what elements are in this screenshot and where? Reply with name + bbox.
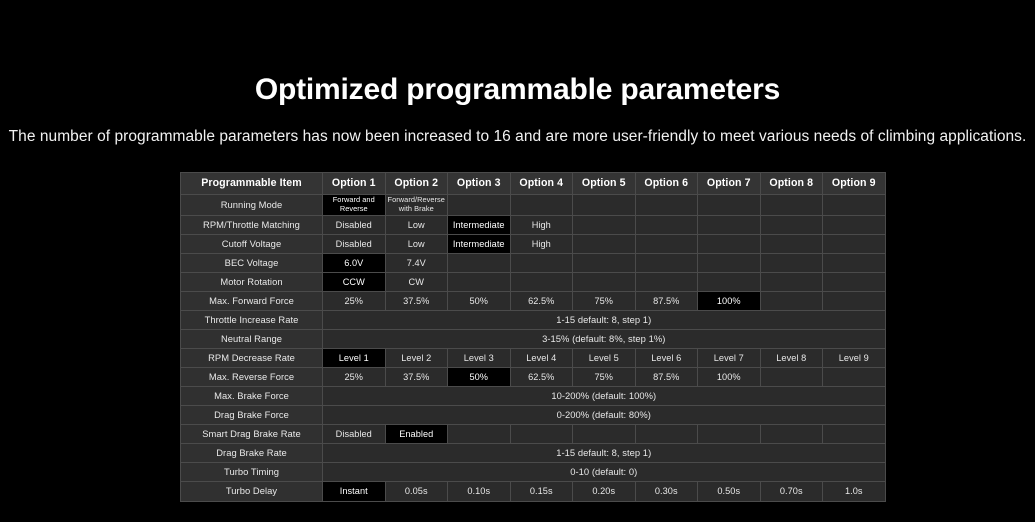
option-cell[interactable]: Disabled (323, 425, 386, 444)
option-cell[interactable]: Forward/Reverse with Brake (385, 195, 448, 216)
option-cell (573, 273, 636, 292)
table-row: Drag Brake Rate1-15 default: 8, step 1) (181, 444, 886, 463)
option-cell (823, 235, 886, 254)
option-cell[interactable]: Level 4 (510, 349, 573, 368)
option-cell (448, 254, 511, 273)
option-cell (510, 254, 573, 273)
option-cell (760, 368, 823, 387)
option-cell (573, 235, 636, 254)
row-label: Drag Brake Rate (181, 444, 323, 463)
option-cell[interactable]: 62.5% (510, 292, 573, 311)
option-cell (698, 235, 761, 254)
option-cell[interactable]: Level 7 (698, 349, 761, 368)
column-header-option-6: Option 6 (635, 173, 698, 195)
option-cell-selected[interactable]: CCW (323, 273, 386, 292)
option-cell (635, 235, 698, 254)
option-cell (698, 195, 761, 216)
column-header-option-1: Option 1 (323, 173, 386, 195)
option-cell (510, 195, 573, 216)
option-cell-selected[interactable]: 6.0V (323, 254, 386, 273)
option-cell[interactable]: 87.5% (635, 368, 698, 387)
option-cell-selected[interactable]: Instant (323, 482, 386, 502)
row-label: RPM Decrease Rate (181, 349, 323, 368)
table-row: Max. Brake Force10-200% (default: 100%) (181, 387, 886, 406)
option-cell[interactable]: 7.4V (385, 254, 448, 273)
column-header-option-9: Option 9 (823, 173, 886, 195)
option-cell[interactable]: Disabled (323, 235, 386, 254)
column-header-option-2: Option 2 (385, 173, 448, 195)
option-cell (760, 195, 823, 216)
option-cell (448, 425, 511, 444)
option-cell[interactable]: 75% (573, 368, 636, 387)
option-cell (635, 195, 698, 216)
table-row: Max. Forward Force25%37.5%50%62.5%75%87.… (181, 292, 886, 311)
table-row: Turbo Timing0-10 (default: 0) (181, 463, 886, 482)
option-cell-selected[interactable]: Forward and Reverse (323, 195, 386, 216)
option-cell (760, 425, 823, 444)
table-row: Motor RotationCCWCW (181, 273, 886, 292)
option-cell-selected[interactable]: 100% (698, 292, 761, 311)
option-cell[interactable]: Level 5 (573, 349, 636, 368)
column-header-option-5: Option 5 (573, 173, 636, 195)
option-cell[interactable]: CW (385, 273, 448, 292)
table-body: Running ModeForward and ReverseForward/R… (181, 195, 886, 502)
option-cell (448, 273, 511, 292)
option-cell[interactable]: Level 6 (635, 349, 698, 368)
option-cell (635, 273, 698, 292)
row-label: RPM/Throttle Matching (181, 216, 323, 235)
row-label: Max. Forward Force (181, 292, 323, 311)
option-cell[interactable]: Disabled (323, 216, 386, 235)
option-cell[interactable]: 75% (573, 292, 636, 311)
option-cell (760, 273, 823, 292)
page-title: Optimized programmable parameters (0, 72, 1035, 108)
option-cell (823, 195, 886, 216)
option-cell (823, 254, 886, 273)
row-range-value: 1-15 default: 8, step 1) (323, 311, 886, 330)
option-cell-selected[interactable]: Intermediate (448, 216, 511, 235)
programmable-parameters-table: Programmable Item Option 1 Option 2 Opti… (180, 172, 886, 502)
row-label: Cutoff Voltage (181, 235, 323, 254)
column-header-option-8: Option 8 (760, 173, 823, 195)
option-cell[interactable]: 0.15s (510, 482, 573, 502)
option-cell[interactable]: 37.5% (385, 292, 448, 311)
row-label: Motor Rotation (181, 273, 323, 292)
row-label: Throttle Increase Rate (181, 311, 323, 330)
option-cell (635, 216, 698, 235)
option-cell[interactable]: 0.05s (385, 482, 448, 502)
option-cell[interactable]: 37.5% (385, 368, 448, 387)
option-cell-selected[interactable]: Level 1 (323, 349, 386, 368)
option-cell[interactable]: Level 2 (385, 349, 448, 368)
table-row: BEC Voltage6.0V7.4V (181, 254, 886, 273)
option-cell[interactable]: Level 8 (760, 349, 823, 368)
option-cell[interactable]: 100% (698, 368, 761, 387)
row-label: Max. Brake Force (181, 387, 323, 406)
option-cell (760, 216, 823, 235)
table-header-row: Programmable Item Option 1 Option 2 Opti… (181, 173, 886, 195)
option-cell-selected[interactable]: 50% (448, 368, 511, 387)
table-row: Neutral Range3-15% (default: 8%, step 1%… (181, 330, 886, 349)
row-label: BEC Voltage (181, 254, 323, 273)
row-range-value: 10-200% (default: 100%) (323, 387, 886, 406)
option-cell-selected[interactable]: Intermediate (448, 235, 511, 254)
option-cell[interactable]: Level 3 (448, 349, 511, 368)
option-cell (573, 195, 636, 216)
option-cell (573, 216, 636, 235)
column-header-option-4: Option 4 (510, 173, 573, 195)
row-label: Max. Reverse Force (181, 368, 323, 387)
option-cell (698, 273, 761, 292)
row-label: Running Mode (181, 195, 323, 216)
option-cell-selected[interactable]: Enabled (385, 425, 448, 444)
row-label: Smart Drag Brake Rate (181, 425, 323, 444)
table-row: Cutoff VoltageDisabledLowIntermediateHig… (181, 235, 886, 254)
option-cell (510, 273, 573, 292)
row-range-value: 3-15% (default: 8%, step 1%) (323, 330, 886, 349)
column-header-programmable-item: Programmable Item (181, 173, 323, 195)
option-cell[interactable]: 1.0s (823, 482, 886, 502)
table-row: Drag Brake Force0-200% (default: 80%) (181, 406, 886, 425)
page-subtitle: The number of programmable parameters ha… (0, 126, 1035, 148)
option-cell[interactable]: 62.5% (510, 368, 573, 387)
option-cell[interactable]: 0.20s (573, 482, 636, 502)
option-cell (823, 368, 886, 387)
table-header: Programmable Item Option 1 Option 2 Opti… (181, 173, 886, 195)
option-cell[interactable]: High (510, 235, 573, 254)
option-cell (510, 425, 573, 444)
slide-root: Optimized programmable parameters The nu… (0, 0, 1035, 522)
row-label: Drag Brake Force (181, 406, 323, 425)
option-cell (698, 216, 761, 235)
row-range-value: 0-10 (default: 0) (323, 463, 886, 482)
option-cell[interactable]: Low (385, 216, 448, 235)
parameters-table-container: Programmable Item Option 1 Option 2 Opti… (180, 172, 885, 502)
option-cell[interactable]: 25% (323, 368, 386, 387)
option-cell (573, 254, 636, 273)
option-cell (823, 273, 886, 292)
option-cell (635, 254, 698, 273)
table-row: RPM/Throttle MatchingDisabledLowIntermed… (181, 216, 886, 235)
option-cell[interactable]: 25% (323, 292, 386, 311)
option-cell[interactable]: 87.5% (635, 292, 698, 311)
option-cell (698, 254, 761, 273)
row-label: Neutral Range (181, 330, 323, 349)
option-cell[interactable]: Low (385, 235, 448, 254)
row-label: Turbo Timing (181, 463, 323, 482)
table-row: Smart Drag Brake RateDisabledEnabled (181, 425, 886, 444)
option-cell[interactable]: 50% (448, 292, 511, 311)
heading-block: Optimized programmable parameters The nu… (0, 72, 1035, 148)
table-row: Turbo DelayInstant0.05s0.10s0.15s0.20s0.… (181, 482, 886, 502)
option-cell (760, 254, 823, 273)
option-cell (448, 195, 511, 216)
column-header-option-7: Option 7 (698, 173, 761, 195)
option-cell (823, 216, 886, 235)
option-cell (760, 235, 823, 254)
row-range-value: 0-200% (default: 80%) (323, 406, 886, 425)
option-cell (823, 292, 886, 311)
row-range-value: 1-15 default: 8, step 1) (323, 444, 886, 463)
option-cell (573, 425, 636, 444)
option-cell (698, 425, 761, 444)
option-cell[interactable]: 0.30s (635, 482, 698, 502)
option-cell[interactable]: 0.70s (760, 482, 823, 502)
table-row: Running ModeForward and ReverseForward/R… (181, 195, 886, 216)
option-cell (760, 292, 823, 311)
column-header-option-3: Option 3 (448, 173, 511, 195)
option-cell[interactable]: High (510, 216, 573, 235)
option-cell (635, 425, 698, 444)
option-cell (823, 425, 886, 444)
option-cell[interactable]: Level 9 (823, 349, 886, 368)
table-row: RPM Decrease RateLevel 1Level 2Level 3Le… (181, 349, 886, 368)
row-label: Turbo Delay (181, 482, 323, 502)
table-row: Max. Reverse Force25%37.5%50%62.5%75%87.… (181, 368, 886, 387)
table-row: Throttle Increase Rate1-15 default: 8, s… (181, 311, 886, 330)
option-cell[interactable]: 0.50s (698, 482, 761, 502)
option-cell[interactable]: 0.10s (448, 482, 511, 502)
